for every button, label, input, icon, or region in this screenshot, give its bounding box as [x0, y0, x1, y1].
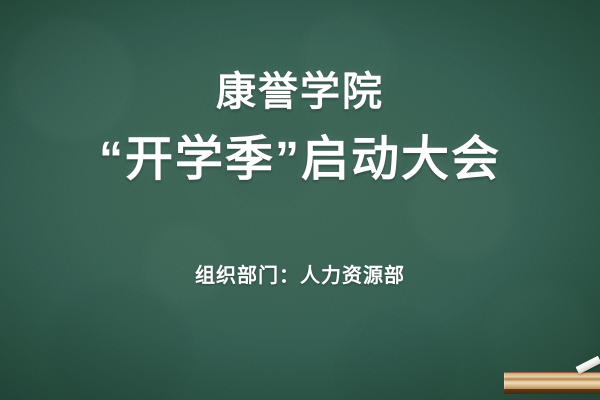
slide-content: 康誉学院 “开学季”启动大会 组织部门：人力资源部	[0, 0, 600, 400]
chalk-ledge	[504, 372, 600, 394]
page-title-line-2: “开学季”启动大会	[99, 136, 501, 184]
chalk-ledge-shadow	[504, 389, 600, 394]
page-title-line-1: 康誉学院	[216, 72, 384, 112]
title-slide: 康誉学院 “开学季”启动大会 组织部门：人力资源部	[0, 0, 600, 400]
subtitle-organizing-department: 组织部门：人力资源部	[195, 266, 405, 286]
chalk-ledge-wood	[504, 372, 600, 390]
